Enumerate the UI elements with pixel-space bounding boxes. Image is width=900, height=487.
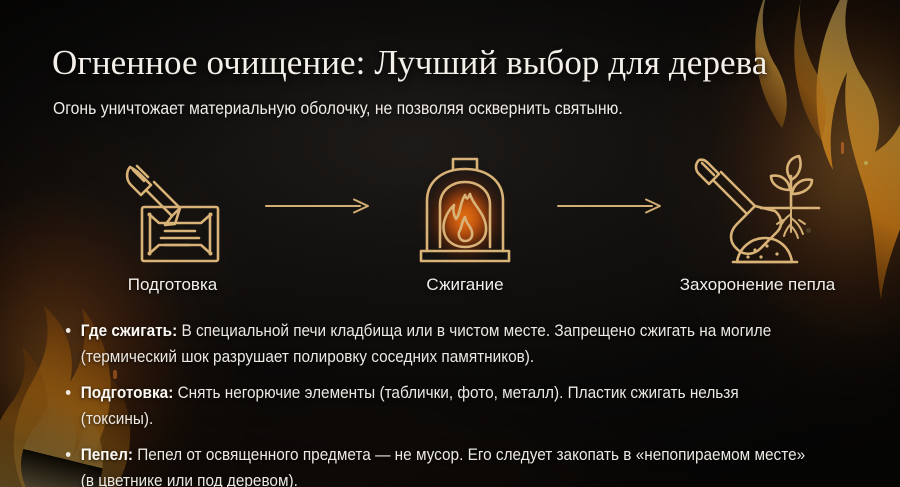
step-preparation: Подготовка — [85, 151, 260, 295]
bullet-dot-icon — [66, 390, 71, 395]
shovel-plant-soil-icon — [693, 151, 823, 271]
step-label: Захоронение пепла — [680, 275, 836, 295]
furnace-flame-icon — [409, 151, 521, 271]
bullet-text: В специальной печи кладбища или в чистом… — [81, 322, 771, 366]
bullet-text: Снять негорючие элементы (таблички, фото… — [81, 384, 739, 428]
step-label: Сжигание — [426, 275, 503, 295]
bullet-dot-icon — [66, 328, 71, 333]
list-item: Подготовка: Снять негорючие элементы (та… — [64, 380, 808, 432]
bullet-lead: Подготовка: — [81, 384, 174, 402]
bullet-dot-icon — [66, 452, 71, 457]
bullet-lead: Пепел: — [81, 446, 133, 464]
bullet-lead: Где сжигать: — [81, 322, 177, 340]
arrow-step1-to-step2 — [260, 197, 378, 215]
list-item: Пепел: Пепел от освященного предмета — н… — [64, 442, 808, 487]
slide-root: Огненное очищение: Лучший выбор для дере… — [0, 0, 900, 487]
step-label: Подготовка — [128, 275, 217, 295]
list-item: Где сжигать: В специальной печи кладбища… — [64, 318, 808, 370]
bullet-list: Где сжигать: В специальной печи кладбища… — [64, 318, 864, 487]
screwdriver-plaque-icon — [117, 151, 229, 271]
page-title: Огненное очищение: Лучший выбор для дере… — [52, 42, 767, 84]
arrow-step2-to-step3 — [553, 197, 671, 215]
step-burning: Сжигание — [378, 151, 553, 295]
bullet-text: Пепел от освященного предмета — не мусор… — [81, 446, 805, 487]
step-ash-burial: Захоронение пепла — [670, 151, 845, 295]
page-subtitle: Огонь уничтожает материальную оболочку, … — [53, 96, 623, 120]
process-steps: Подготовка — [85, 140, 845, 305]
